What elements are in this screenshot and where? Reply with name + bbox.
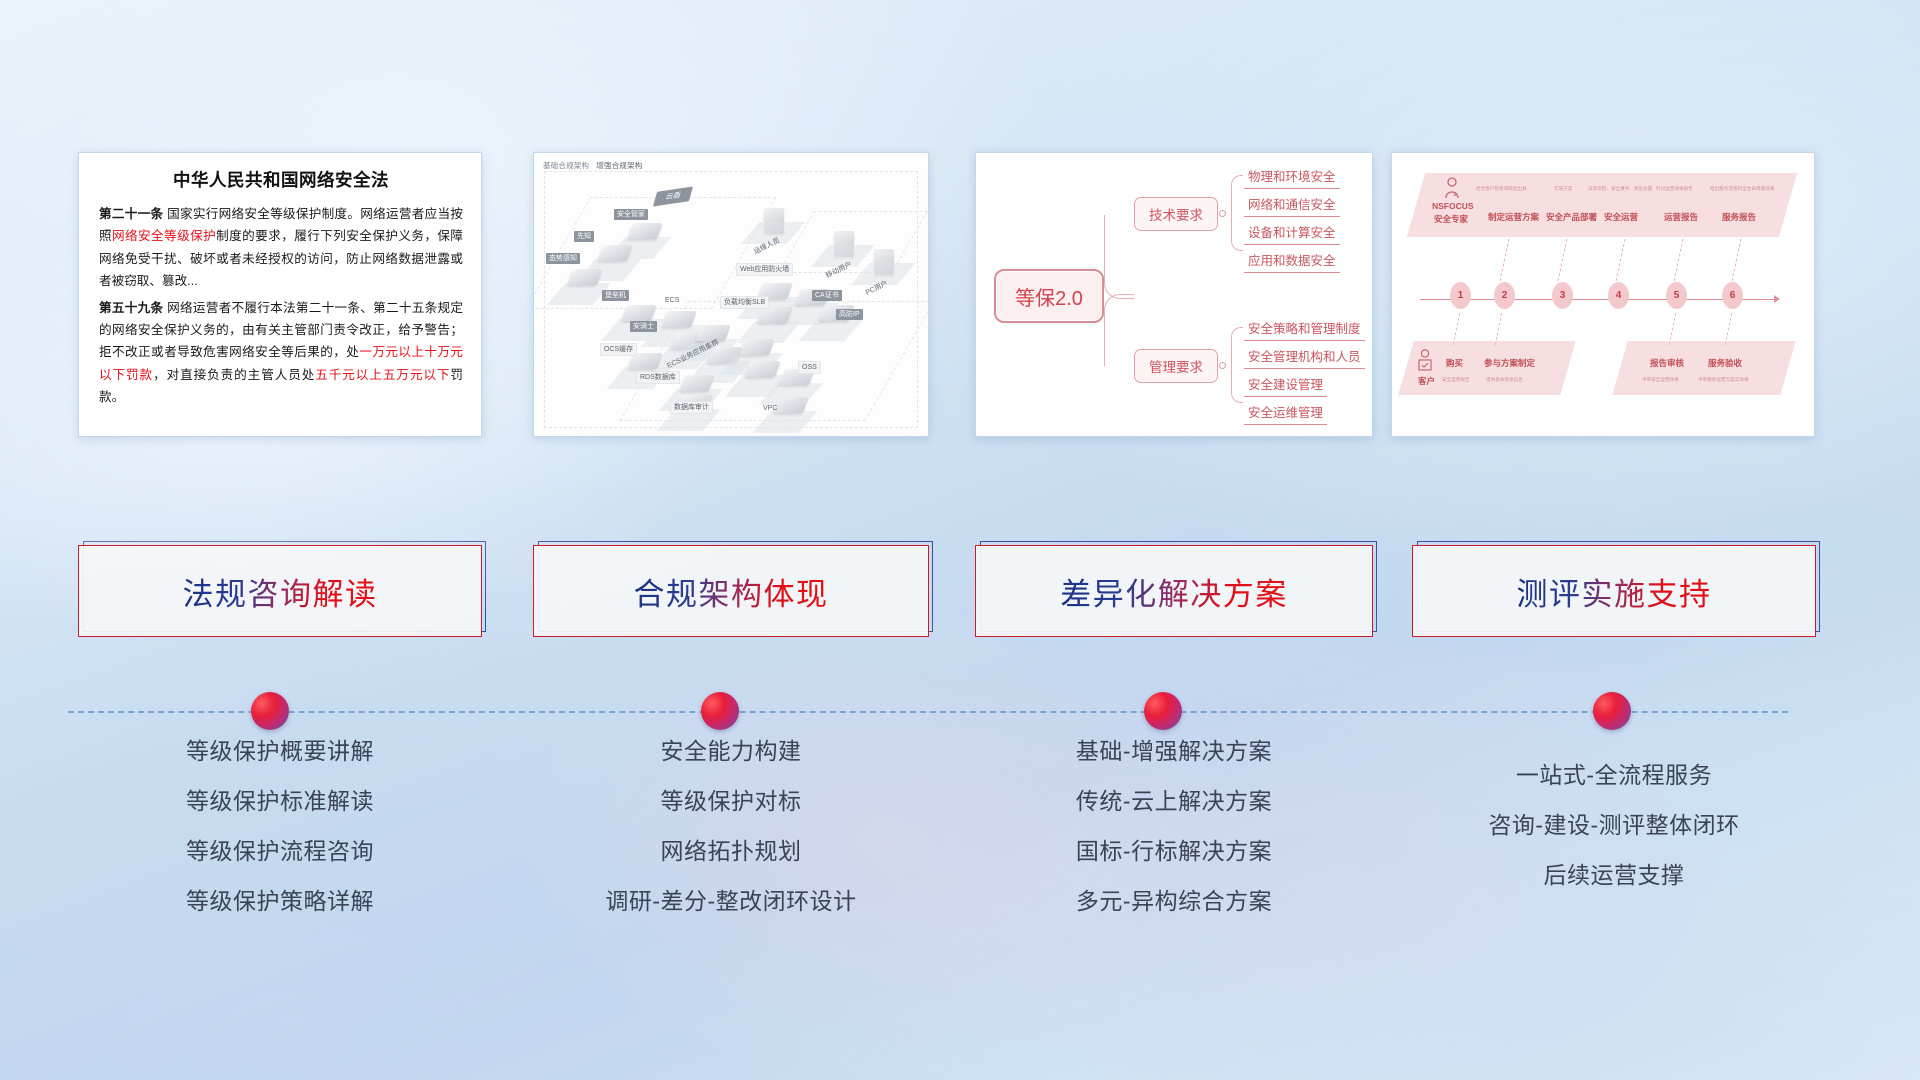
node-label-load-balancer-slb: 负载均衡SLB (720, 296, 769, 309)
mindmap-leaf-tech-2: 设备和计算安全 (1244, 221, 1340, 245)
nsfocus-top-sub-2: 日常巡检、安全事件、高危处置 (1588, 186, 1652, 192)
node-rds-database (682, 375, 712, 391)
nsfocus-top-sub-3: 针对运营效果报告 (1656, 186, 1693, 192)
mindmap: 等保2.0 技术要求 物理和环境安全 网络和通信安全 设备和计算安全 应用和数据… (976, 153, 1372, 436)
detail-list-regulation-consulting: 等级保护概要讲解 等级保护标准解读 等级保护流程咨询 等级保护策略详解 (78, 740, 482, 940)
nsfocus-step-node-5[interactable]: 5 (1666, 282, 1687, 309)
list-item: 网络拓扑规划 (533, 840, 929, 863)
law-article-21-highlight: 网络安全等级保护 (112, 229, 216, 243)
law-article-21: 第二十一条 国家实行网络安全等级保护制度。网络运营者应当按照网络安全等级保护制度… (99, 203, 463, 293)
node-label-web-application-firewall: Web应用防火墙 (736, 263, 793, 276)
nsfocus-bottom-label-2: 报告审核 (1650, 357, 1684, 369)
nsfocus-step-node-2[interactable]: 2 (1494, 282, 1515, 309)
node-label-situational-awareness: 态势感知 (546, 253, 580, 264)
title-label-1: 合规架构体现 (634, 569, 829, 614)
node-label-database-audit: 数据库审计 (670, 401, 713, 414)
mindmap-collapse-dot-management[interactable] (1219, 362, 1226, 369)
list-item: 后续运营支撑 (1412, 864, 1816, 887)
nsfocus-bottom-right-band (1612, 341, 1795, 395)
node-load-balancer-slb (760, 307, 790, 323)
mindmap-leaf-tech-3: 应用和数据安全 (1244, 249, 1340, 273)
list-item: 国标-行标解决方案 (975, 840, 1373, 863)
mindmap-fan-technical (1231, 175, 1243, 251)
nsfocus-top-label-0: 制定运营方案 (1488, 211, 1539, 223)
list-item: 多元-异构综合方案 (975, 890, 1373, 913)
nsfocus-connector-top-3 (1616, 239, 1626, 281)
nsfocus-customer-role: 客户 (1418, 375, 1435, 387)
nsfocus-diagram: NSFOCUS 安全专家 结合客户现状调研后出具 制定运营方案 实施方案 安全产… (1392, 153, 1814, 436)
nsfocus-connector-top-2 (1558, 239, 1568, 281)
mindmap-leaf-tech-1: 网络和通信安全 (1244, 193, 1340, 217)
nsfocus-step-node-4[interactable]: 4 (1608, 282, 1629, 309)
node-label-ocs-cache: OCS缓存 (600, 343, 637, 356)
mindmap-leaf-mgmt-0: 安全策略和管理制度 (1244, 317, 1365, 341)
node-ops-staff (764, 208, 784, 234)
nsfocus-expert-role: 安全专家 (1434, 213, 1468, 225)
list-item: 安全能力构建 (533, 740, 929, 763)
nsfocus-top-sub-0: 结合客户现状调研后出具 (1476, 186, 1527, 192)
mindmap-leaf-mgmt-1: 安全管理机构和人员 (1244, 345, 1365, 369)
node-vpc (776, 397, 806, 413)
mindmap-fan-management (1231, 327, 1243, 403)
list-item: 等级保护流程咨询 (78, 840, 482, 863)
security-expert-icon (1442, 177, 1462, 199)
mindmap-leaf-tech-0: 物理和环境安全 (1244, 165, 1340, 189)
timeline-dot-2[interactable] (1144, 692, 1182, 730)
law-article-59: 第五十九条 网络运营者不履行本法第二十一条、第二十五条规定的网络安全保护义务的，… (99, 297, 463, 409)
nsfocus-bottom-sub-3: 评审整体运营方案实效果 (1698, 377, 1749, 383)
list-item: 咨询-建设-测评整体闭环 (1412, 814, 1816, 837)
nsfocus-step-node-3[interactable]: 3 (1552, 282, 1573, 309)
node-label-vpc: VPC (760, 403, 780, 414)
list-item: 基础-增强解决方案 (975, 740, 1373, 763)
nsfocus-bottom-sub-0: 安全运营报告 (1442, 377, 1470, 383)
mindmap-leaf-mgmt-2: 安全建设管理 (1244, 373, 1327, 397)
title-label-0: 法规咨询解读 (183, 569, 378, 614)
network-diagram: 基础合规架构 增强合规架构 云盾 安全管家 先知 态势感知 (534, 153, 928, 436)
nsfocus-step-node-6[interactable]: 6 (1722, 282, 1743, 309)
detail-list-compliance-architecture: 安全能力构建 等级保护对标 网络拓扑规划 调研-差分-整改闭环设计 (533, 740, 929, 940)
node-label-anti-ddos-ip: 高防IP (836, 309, 863, 320)
node-ecs-cluster-c (742, 339, 772, 355)
timeline-dot-1[interactable] (701, 692, 739, 730)
list-item: 传统-云上解决方案 (975, 790, 1373, 813)
node-situational-awareness (570, 269, 600, 285)
title-boxes-row: 法规咨询解读 合规架构体现 差异化解决方案 测评实施支持 (0, 545, 1920, 641)
node-label-ca-certificate: CA证书 (812, 290, 842, 301)
title-box-assessment-support[interactable]: 测评实施支持 (1412, 545, 1816, 637)
list-item: 一站式-全流程服务 (1412, 764, 1816, 787)
network-diagram-tabs: 基础合规架构 增强合规架构 (543, 160, 642, 171)
nsfocus-top-label-2: 安全运营 (1604, 211, 1638, 223)
list-item: 等级保护标准解读 (78, 790, 482, 813)
node-ecs-cluster-d (748, 361, 778, 377)
node-bastion-host (624, 305, 654, 321)
customer-icon (1416, 349, 1434, 373)
node-label-rds-database: RDS数据库 (636, 371, 680, 384)
mindmap-collapse-dot-technical[interactable] (1219, 210, 1226, 217)
tab-enhanced-architecture[interactable]: 增强合规架构 (596, 160, 642, 171)
node-label-ecs: ECS (662, 295, 682, 306)
nsfocus-axis-arrow-icon (1774, 295, 1780, 303)
card-network-architecture[interactable]: 基础合规架构 增强合规架构 云盾 安全管家 先知 态势感知 (533, 152, 929, 437)
title-box-compliance-architecture[interactable]: 合规架构体现 (533, 545, 929, 637)
nsfocus-step-node-1[interactable]: 1 (1450, 282, 1471, 309)
nsfocus-bottom-label-3: 服务验收 (1708, 357, 1742, 369)
nsfocus-top-sub-4: 给出服务范围内全生命周期效果 (1710, 186, 1774, 192)
law-document: 中华人民共和国网络安全法 第二十一条 国家实行网络安全等级保护制度。网络运营者应… (79, 153, 481, 419)
nsfocus-top-label-4: 服务报告 (1722, 211, 1756, 223)
nsfocus-connector-top-5 (1732, 239, 1742, 281)
law-article-59-highlight-2: 五千元以上五万元以下 (315, 368, 450, 382)
detail-list-differentiated-solution: 基础-增强解决方案 传统-云上解决方案 国标-行标解决方案 多元-异构综合方案 (975, 740, 1373, 940)
timeline-dot-0[interactable] (251, 692, 289, 730)
detail-list-assessment-support: 一站式-全流程服务 咨询-建设-测评整体闭环 后续运营支撑 (1412, 764, 1816, 914)
mindmap-link-root-tech (1104, 215, 1134, 299)
node-ecs (664, 311, 694, 327)
nsfocus-connector-top-1 (1500, 239, 1510, 281)
node-xianzhi (600, 245, 630, 261)
title-box-regulation-consulting[interactable]: 法规咨询解读 (78, 545, 482, 637)
mindmap-leaf-mgmt-3: 安全运维管理 (1244, 401, 1327, 425)
mindmap-root-node: 等保2.0 (994, 269, 1104, 323)
nsfocus-top-sub-1: 实施方案 (1554, 186, 1572, 192)
node-security-housekeeper (630, 223, 660, 239)
nsfocus-bottom-label-1: 参与方案制定 (1484, 357, 1535, 369)
timeline-dot-3[interactable] (1593, 692, 1631, 730)
nsfocus-bottom-sub-1: 提供基本现状信息 (1486, 377, 1523, 383)
title-label-2: 差异化解决方案 (1060, 569, 1288, 614)
nsfocus-bottom-label-0: 购买 (1446, 357, 1463, 369)
cards-row: 中华人民共和国网络安全法 第二十一条 国家实行网络安全等级保护制度。网络运营者应… (0, 152, 1920, 447)
list-item: 等级保护概要讲解 (78, 740, 482, 763)
tab-basic-architecture[interactable]: 基础合规架构 (543, 160, 589, 171)
card-mindmap-dengbao[interactable]: 等保2.0 技术要求 物理和环境安全 网络和通信安全 设备和计算安全 应用和数据… (975, 152, 1373, 437)
list-item: 等级保护策略详解 (78, 890, 482, 913)
law-article-59-label: 第五十九条 (99, 301, 163, 315)
list-item: 等级保护对标 (533, 790, 929, 813)
law-article-59-part2: ，对直接负责的主管人员处 (153, 368, 315, 382)
node-label-oss: OSS (798, 361, 821, 374)
node-mobile-user (834, 231, 854, 257)
nsfocus-expert-brand: NSFOCUS (1432, 201, 1474, 211)
nsfocus-top-label-3: 运营报告 (1664, 211, 1698, 223)
nsfocus-top-label-1: 安全产品部署 (1546, 211, 1597, 223)
node-label-bastion-host: 堡垒机 (602, 290, 629, 301)
card-nsfocus-process[interactable]: NSFOCUS 安全专家 结合客户现状调研后出具 制定运营方案 实施方案 安全产… (1391, 152, 1815, 437)
title-box-differentiated-solution[interactable]: 差异化解决方案 (975, 545, 1373, 637)
node-pc-user (874, 249, 894, 275)
mindmap-branch-management: 管理要求 (1134, 349, 1218, 383)
node-label-xianzhi: 先知 (574, 231, 594, 242)
mindmap-link-root-mgmt (1104, 294, 1134, 366)
node-label-anqishi: 安骑士 (630, 321, 657, 332)
title-label-3: 测评实施支持 (1517, 569, 1712, 614)
detail-lists-row: 等级保护概要讲解 等级保护标准解读 等级保护流程咨询 等级保护策略详解 安全能力… (0, 740, 1920, 970)
timeline (0, 692, 1920, 732)
law-title: 中华人民共和国网络安全法 (99, 167, 463, 192)
list-item: 调研-差分-整改闭环设计 (533, 890, 929, 913)
law-article-21-label: 第二十一条 (99, 207, 163, 221)
nsfocus-bottom-sub-2: 评审安全运营效果 (1642, 377, 1679, 383)
nsfocus-connector-top-4 (1674, 239, 1684, 281)
card-cybersecurity-law[interactable]: 中华人民共和国网络安全法 第二十一条 国家实行网络安全等级保护制度。网络运营者应… (78, 152, 482, 437)
timeline-line (68, 711, 1788, 713)
mindmap-branch-technical: 技术要求 (1134, 197, 1218, 231)
node-label-security-housekeeper: 安全管家 (614, 209, 648, 220)
